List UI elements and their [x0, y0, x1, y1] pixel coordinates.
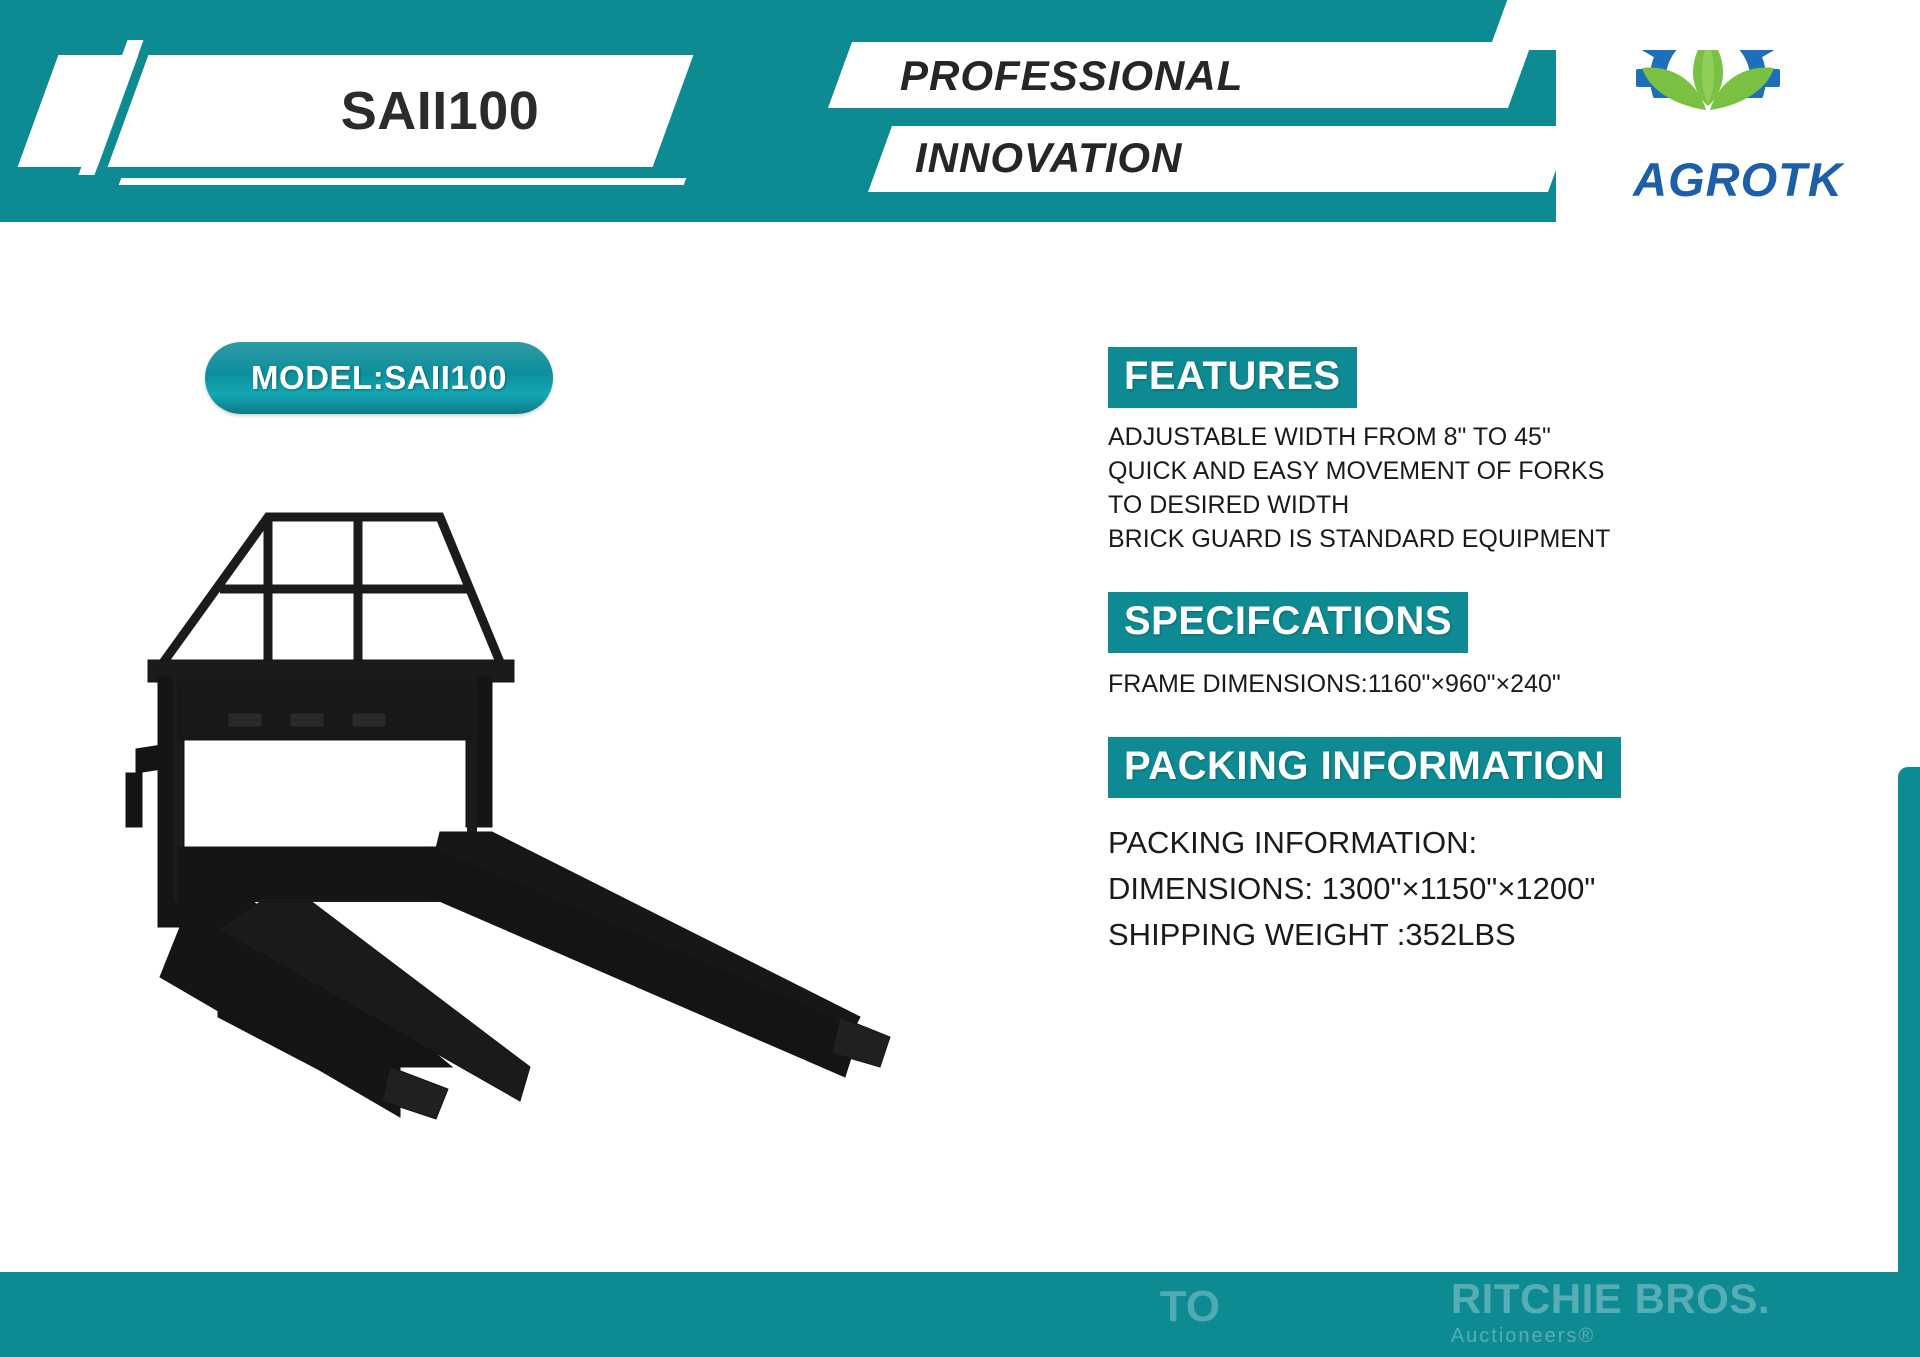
header-tagline-2: INNOVATION — [915, 134, 1182, 182]
feature-item: ADJUSTABLE WIDTH FROM 8" TO 45" — [1108, 420, 1808, 454]
packing-heading: PACKING INFORMATION — [1108, 737, 1621, 798]
page-header: SAII100 PROFESSIONAL INNOVATION — [0, 0, 1920, 222]
watermark-sub-text: Auctioneers® — [1451, 1326, 1770, 1346]
frame-dimensions-value: FRAME DIMENSIONS:1160"×960"×240" — [1108, 667, 1808, 701]
brand-wordmark: AGROTK — [1556, 152, 1920, 207]
features-heading: FEATURES — [1108, 347, 1357, 408]
product-photo — [100, 377, 1000, 1177]
right-edge-tab-decor — [1898, 767, 1920, 1347]
feature-item: QUICK AND EASY MOVEMENT OF FORKS — [1108, 454, 1808, 488]
feature-item: TO DESIRED WIDTH — [1108, 488, 1808, 522]
header-underline-decor — [119, 178, 687, 185]
features-list: ADJUSTABLE WIDTH FROM 8" TO 45" QUICK AN… — [1108, 420, 1808, 556]
packing-item: PACKING INFORMATION: — [1108, 820, 1808, 866]
header-wedge-decor — [1489, 0, 1920, 50]
page-content: MODEL:SAII100 — [0, 222, 1920, 1272]
page-footer: TO RITCHIE BROS. Auctioneers® — [0, 1272, 1920, 1357]
spec-info-column: FEATURES ADJUSTABLE WIDTH FROM 8" TO 45"… — [1108, 347, 1808, 958]
packing-item: DIMENSIONS: 1300"×1150"×1200" — [1108, 866, 1808, 912]
watermark-prefix: TO — [1160, 1282, 1220, 1332]
packing-item: SHIPPING WEIGHT :352LBS — [1108, 912, 1808, 958]
watermark-main-text: RITCHIE BROS. — [1451, 1275, 1770, 1322]
specifications-heading: SPECIFCATIONS — [1108, 592, 1468, 653]
packing-list: PACKING INFORMATION: DIMENSIONS: 1300"×1… — [1108, 820, 1808, 958]
ritchie-bros-watermark: RITCHIE BROS. Auctioneers® — [1451, 1278, 1770, 1346]
feature-item: BRICK GUARD IS STANDARD EQUIPMENT — [1108, 522, 1808, 556]
page-title: SAII100 — [180, 58, 700, 164]
header-tagline-1: PROFESSIONAL — [900, 52, 1243, 100]
